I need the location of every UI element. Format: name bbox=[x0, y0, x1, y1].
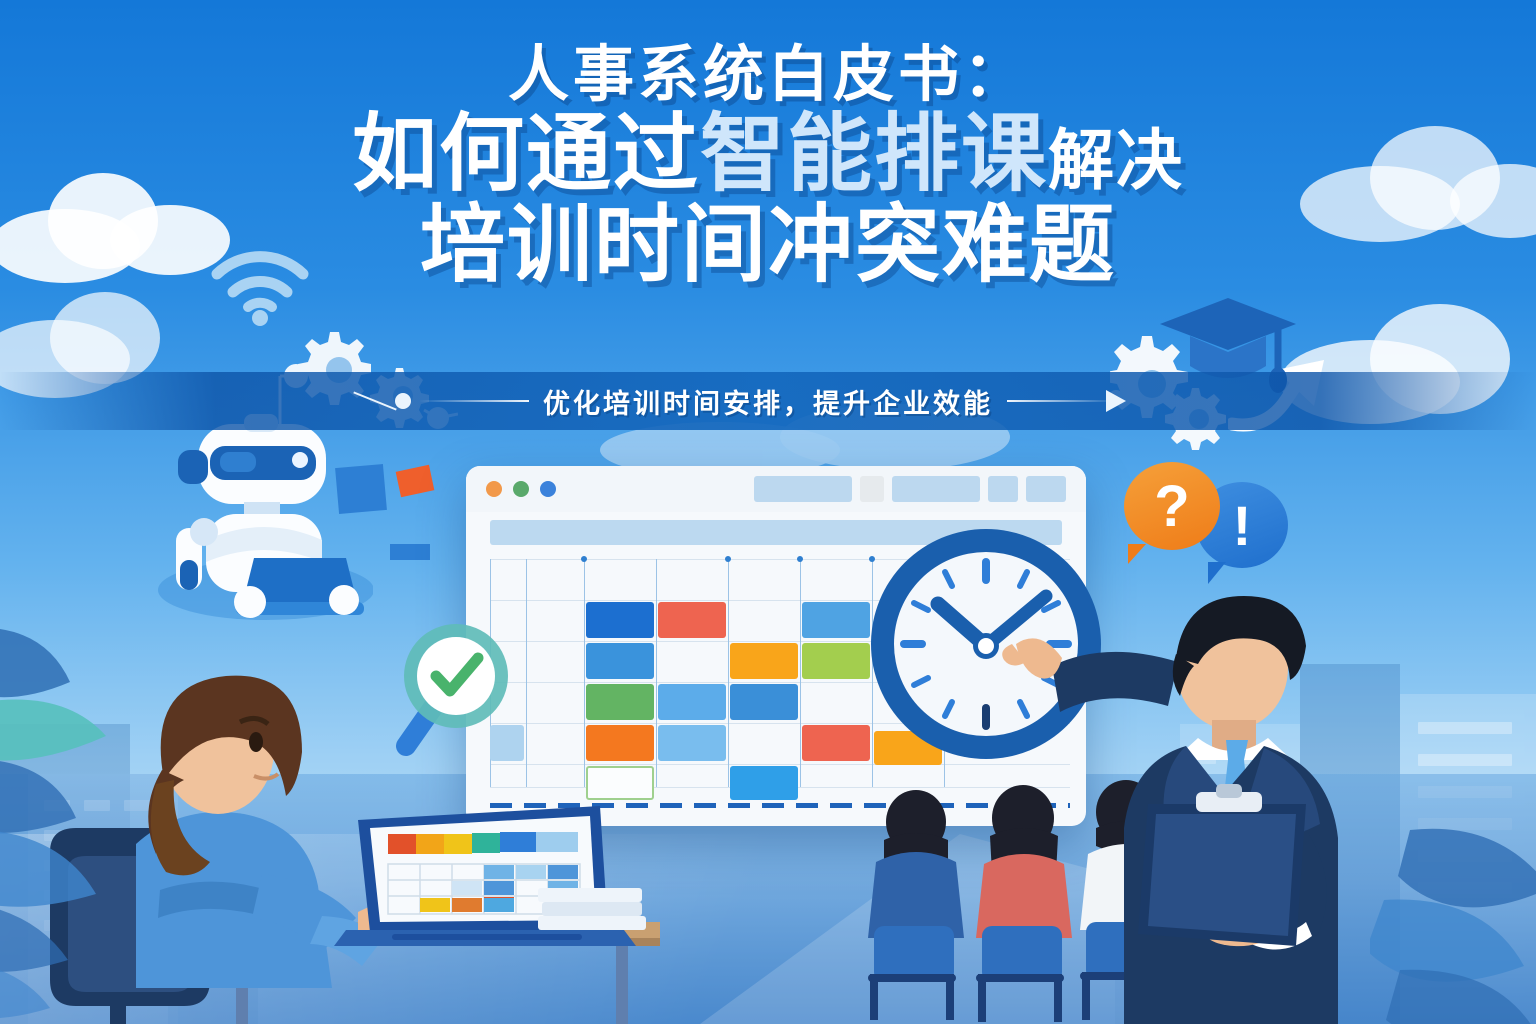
browser-tab-3[interactable] bbox=[892, 476, 980, 502]
headline-part-1: 如何通过 bbox=[352, 107, 700, 202]
ribbon-rule-left bbox=[419, 400, 529, 402]
browser-tab-1[interactable] bbox=[754, 476, 852, 502]
minimize-traffic-light[interactable] bbox=[513, 481, 529, 497]
question-bubble-glyph: ? bbox=[1154, 473, 1189, 540]
page-subtitle: 优化培训时间安排，提升企业效能 bbox=[543, 382, 993, 421]
float-square-orange bbox=[396, 465, 435, 498]
ribbon-node-left bbox=[395, 393, 411, 409]
browser-tab-5[interactable] bbox=[1026, 476, 1066, 502]
page-kicker: 人事系统白皮书： bbox=[0, 42, 1536, 106]
headline-line-2: 如何通过智能排课解决 bbox=[0, 112, 1536, 199]
question-bubble-tail bbox=[1128, 544, 1146, 564]
close-traffic-light[interactable] bbox=[486, 481, 502, 497]
browser-tab-2[interactable] bbox=[860, 476, 884, 502]
ribbon-arrow-right bbox=[1106, 390, 1126, 412]
schedule-block[interactable] bbox=[730, 643, 798, 679]
headline-block: 人事系统白皮书： 如何通过智能排课解决 培训时间冲突难题 bbox=[0, 42, 1536, 289]
plant-right bbox=[1370, 790, 1536, 1024]
browser-tabstrip bbox=[754, 476, 1066, 502]
exclamation-bubble-glyph: ! bbox=[1233, 493, 1252, 558]
browser-tab-4[interactable] bbox=[988, 476, 1018, 502]
headline-part-3: 解决 bbox=[1048, 123, 1184, 197]
plant-left bbox=[0, 610, 210, 1024]
headline-part-highlight: 智能排课 bbox=[700, 107, 1048, 202]
subtitle-ribbon: 优化培训时间安排，提升企业效能 bbox=[0, 372, 1536, 430]
headline-line-3: 培训时间冲突难题 bbox=[0, 203, 1536, 290]
float-bar-blue bbox=[390, 544, 430, 560]
schedule-block[interactable] bbox=[730, 766, 798, 800]
question-bubble: ? bbox=[1124, 462, 1220, 550]
poster-canvas: 人事系统白皮书： 如何通过智能排课解决 培训时间冲突难题 优化培训时间安排，提升… bbox=[0, 0, 1536, 1024]
ribbon-rule-right bbox=[1007, 400, 1117, 402]
browser-titlebar bbox=[466, 466, 1086, 512]
robot-icon bbox=[158, 410, 373, 620]
schedule-block[interactable] bbox=[802, 725, 870, 761]
schedule-block[interactable] bbox=[802, 643, 870, 679]
maximize-traffic-light[interactable] bbox=[540, 481, 556, 497]
exclamation-bubble-tail bbox=[1208, 562, 1226, 584]
schedule-block[interactable] bbox=[802, 602, 870, 638]
schedule-block[interactable] bbox=[730, 684, 798, 720]
